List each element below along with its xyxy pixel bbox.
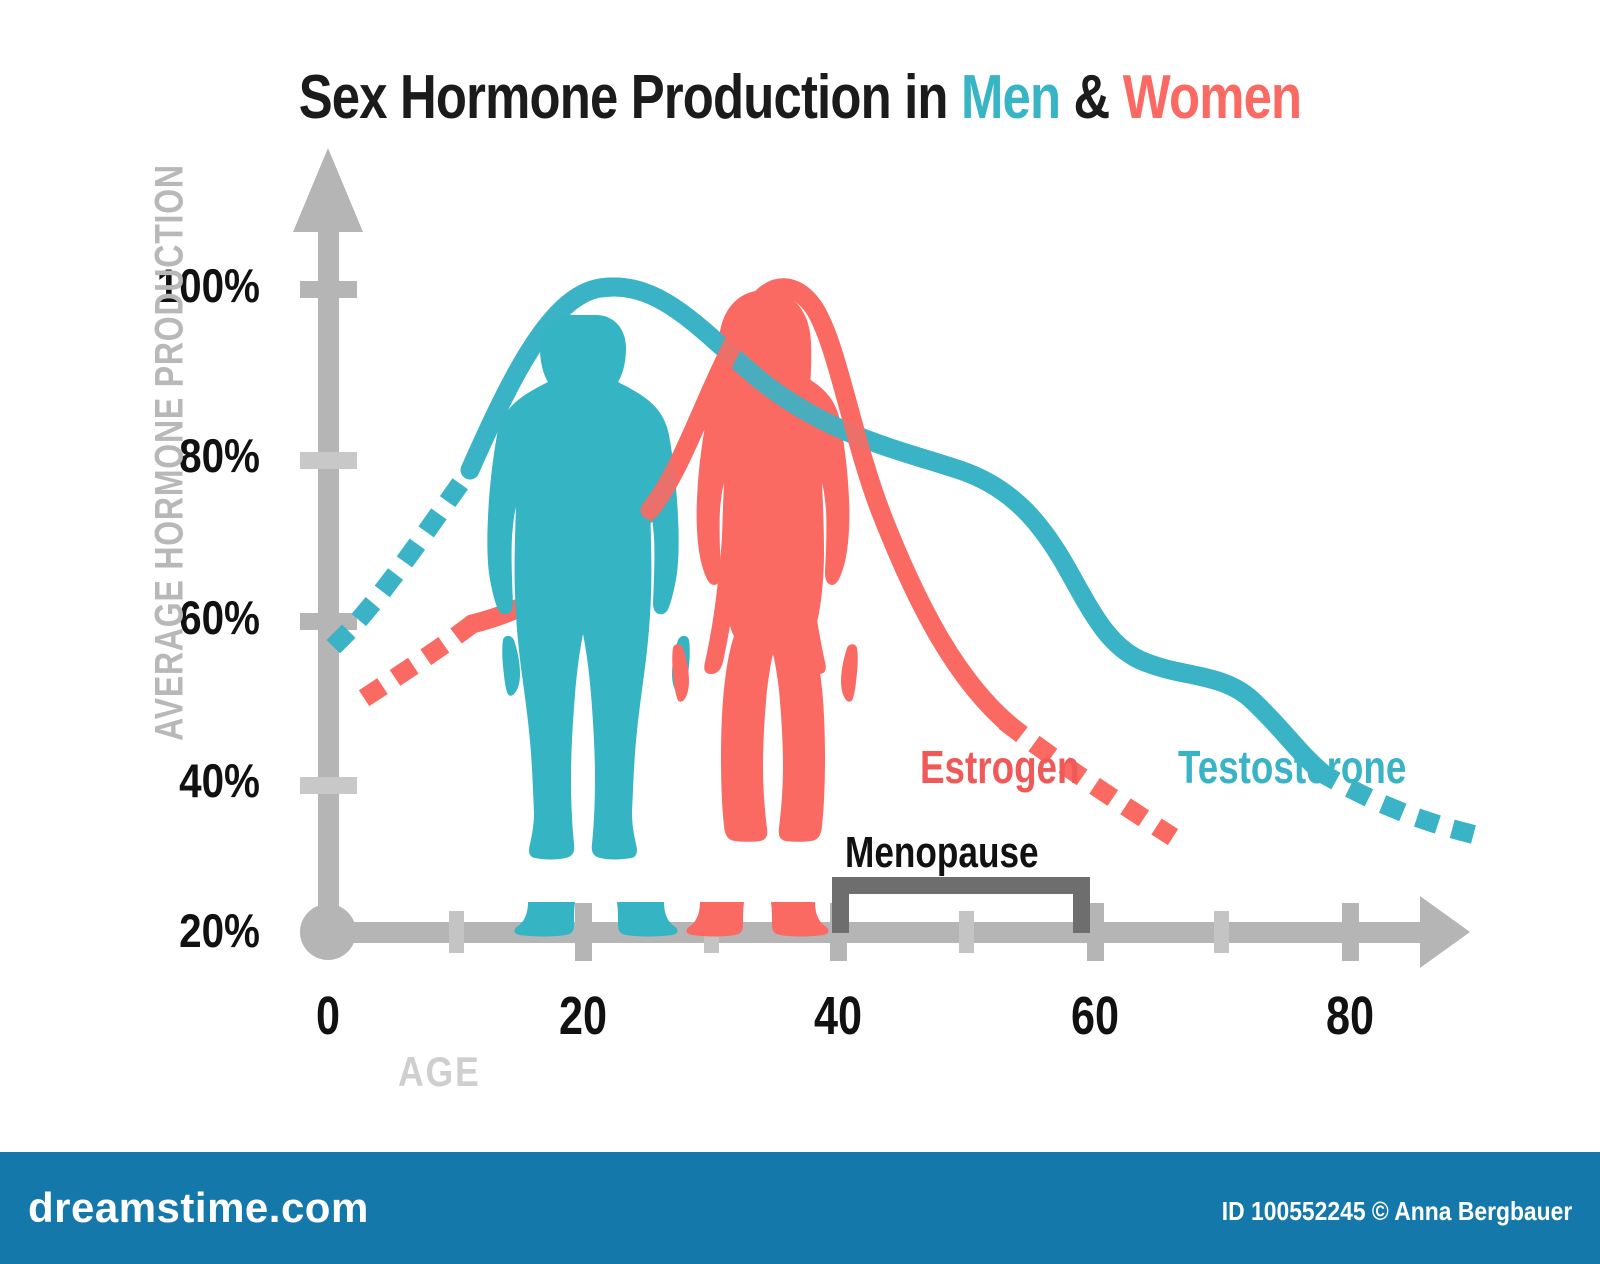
- y-axis: [293, 148, 363, 960]
- testosterone-dashed-start: [340, 470, 470, 640]
- y-tick-label-20: 20%: [88, 903, 260, 958]
- estrogen-dashed-start: [372, 624, 472, 693]
- y-axis-title: AVERAGE HORMONE PRODUCTION: [148, 149, 193, 757]
- x-tick-20: [575, 903, 592, 961]
- y-tick-label-40: 40%: [88, 753, 260, 808]
- x-axis-title: AGE: [398, 1048, 480, 1096]
- x-tick-70: [1214, 911, 1229, 953]
- x-tick-50: [959, 911, 974, 953]
- x-axis: [328, 896, 1470, 968]
- x-tick-label-40: 40: [798, 985, 878, 1047]
- male-silhouette: [487, 315, 689, 937]
- y-tick-60: [300, 613, 357, 630]
- x-tick-label-20: 20: [543, 985, 623, 1047]
- x-tick-label-0: 0: [288, 985, 368, 1047]
- x-tick-10: [449, 911, 464, 953]
- x-tick-label-60: 60: [1055, 985, 1135, 1047]
- infographic-chart: Sex Hormone Production in Men & Women: [0, 0, 1600, 1264]
- x-tick-80: [1342, 903, 1359, 961]
- y-tick-40: [300, 777, 357, 794]
- menopause-label: Menopause: [845, 828, 1039, 878]
- footer-bar: dreamstime.com ID 100552245 © Anna Bergb…: [0, 1152, 1600, 1264]
- series-label-testosterone: Testosterone: [1178, 740, 1406, 794]
- image-credit: ID 100552245 © Anna Bergbauer: [1222, 1196, 1572, 1227]
- series-label-estrogen: Estrogen: [920, 740, 1080, 794]
- site-brand: dreamstime.com: [28, 1184, 369, 1232]
- y-tick-80: [300, 452, 357, 469]
- y-tick-100: [300, 281, 357, 298]
- x-tick-label-80: 80: [1310, 985, 1390, 1047]
